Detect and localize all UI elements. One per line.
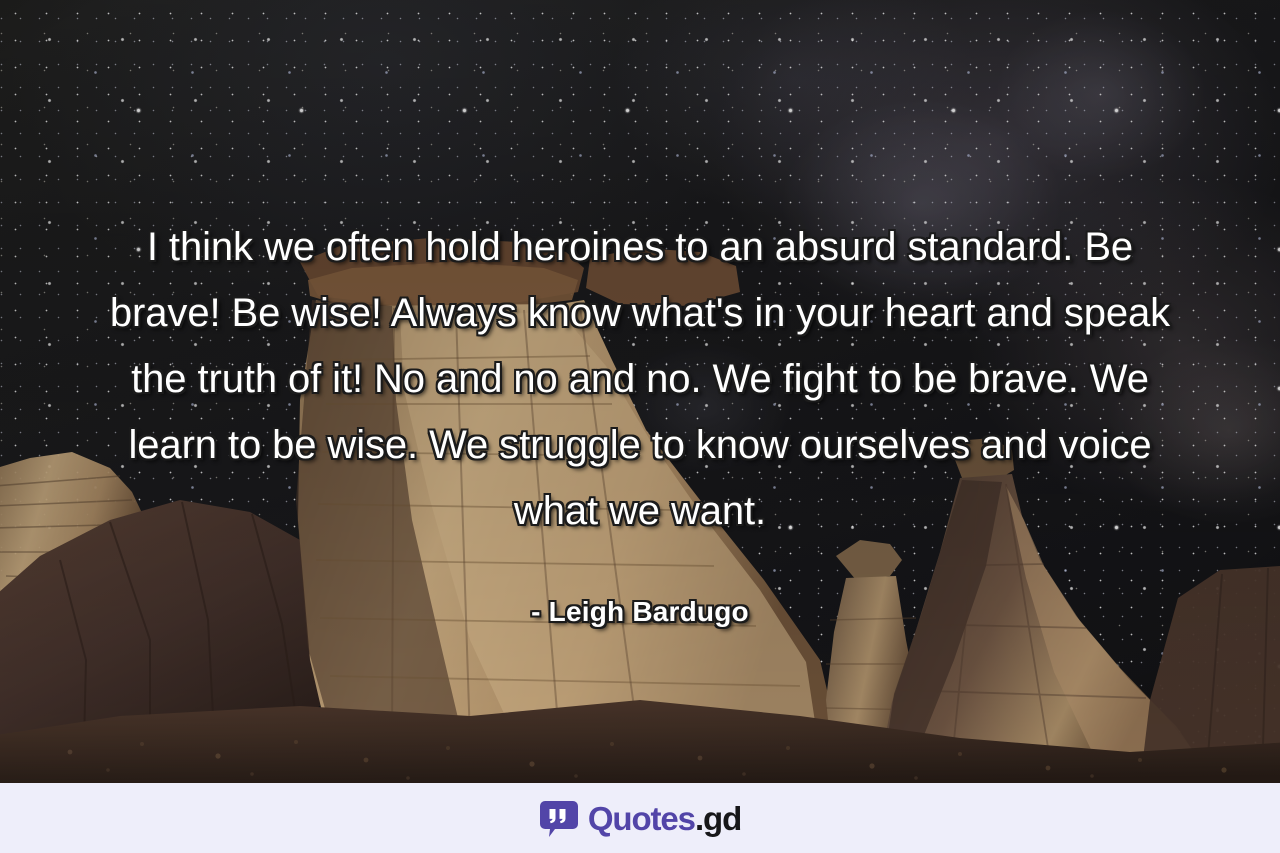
brand-logo-link[interactable]: Quotes.gd xyxy=(539,798,741,838)
brand-name-text: Quotes xyxy=(588,800,695,837)
brand-wordmark: Quotes.gd xyxy=(588,802,741,835)
brand-tld-text: .gd xyxy=(695,800,741,837)
quote-image-page: I think we often hold heroines to an abs… xyxy=(0,0,1280,853)
site-footer: Quotes.gd xyxy=(0,783,1280,853)
quote-text-layer: I think we often hold heroines to an abs… xyxy=(0,0,1280,783)
quote-author-attribution: - Leigh Bardugo xyxy=(90,596,1190,628)
quote-body-text: I think we often hold heroines to an abs… xyxy=(90,214,1190,544)
quote-image-card: I think we often hold heroines to an abs… xyxy=(0,0,1280,783)
quote-bubble-icon xyxy=(539,798,579,838)
